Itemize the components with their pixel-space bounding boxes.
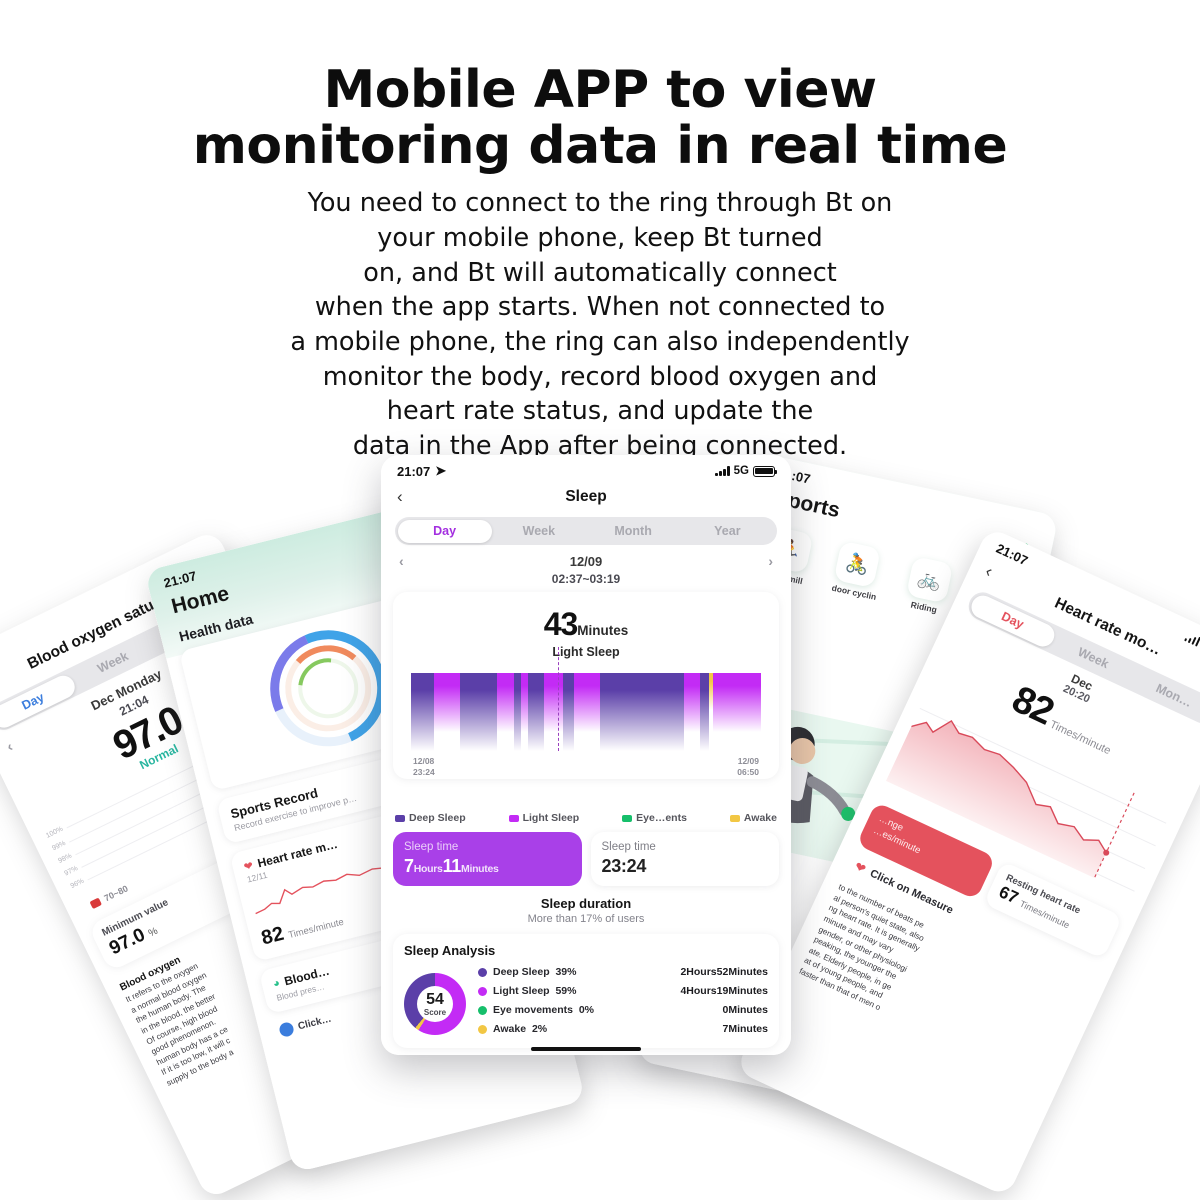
sleep-hypnogram: 12/0823:24 12/0906:50 [411, 673, 761, 751]
hypnogram-segment [460, 673, 497, 751]
sleep-onset-label: Sleep time [602, 841, 769, 853]
chevron-left-icon[interactable]: ‹ [4, 738, 15, 754]
hypnogram-segment [713, 673, 761, 732]
sleep-date-nav[interactable]: ‹ 12/09 › [381, 551, 791, 571]
chevron-left-icon[interactable]: ‹ [399, 553, 404, 569]
hypnogram-end-label: 12/0906:50 [737, 756, 759, 777]
sleep-highlight: 43Minutes [403, 606, 769, 643]
hero-line: monitor the body, record blood oxygen an… [100, 360, 1100, 395]
sleep-highlight-stage: Light Sleep [403, 645, 769, 659]
sleep-duration-title: Sleep duration [381, 896, 791, 911]
title-line-2: monitoring data in real time [0, 118, 1200, 174]
legend-item-deep: Deep Sleep [395, 812, 466, 824]
legend-item-eye: Eye…ents [622, 812, 687, 824]
hero-description: You need to connect to the ring through … [100, 186, 1100, 463]
sleep-status-bar: 21:07 ➤ 5G [381, 455, 791, 481]
heart-icon: ❤ [852, 859, 869, 878]
tab-day[interactable]: Day [398, 520, 492, 543]
phone-sleep[interactable]: 21:07 ➤ 5G ‹ Sleep Day Week Month Year [381, 455, 791, 1055]
sleep-time-duration-value: 7Hours11Minutes [404, 856, 571, 877]
sleep-chart-card: 43Minutes Light Sleep 12/0823:24 12/0906… [393, 592, 779, 779]
hero-line: heart rate status, and update the [100, 394, 1100, 429]
sleep-status-time: 21:07 [397, 464, 430, 479]
analysis-row-eye: Eye movements 0% 0Minutes [478, 1004, 768, 1016]
sleep-analysis-list: Deep Sleep 39% 2Hours52Minutes Light Sle… [478, 966, 768, 1042]
hypnogram-segment [574, 673, 600, 732]
home-heart-value: 82 [259, 923, 286, 950]
sleep-onset-tile[interactable]: Sleep time 23:24 [591, 832, 780, 886]
tab-week[interactable]: Week [492, 520, 586, 543]
battery-icon [753, 466, 775, 477]
sleep-title: Sleep [419, 488, 753, 506]
tab-month[interactable]: Month [586, 520, 680, 543]
hypnogram-start-label: 12/0823:24 [413, 756, 435, 777]
hero-section: Mobile APP to view monitoring data in re… [0, 0, 1200, 450]
analysis-row-deep: Deep Sleep 39% 2Hours52Minutes [478, 966, 768, 978]
spo2-legend-label: 70~80 [103, 883, 130, 903]
spo2-minimum-unit: % [147, 926, 160, 940]
hero-line: when the app starts. When not connected … [100, 290, 1100, 325]
sleep-onset-value: 23:24 [602, 856, 769, 877]
sleep-score-donut: 54 Score [404, 973, 466, 1035]
hypnogram-segment [684, 673, 700, 732]
hypnogram-segment [528, 673, 544, 751]
activity-rings-chart [258, 618, 399, 759]
hypnogram-segment [497, 673, 515, 732]
hypnogram-segment [411, 673, 434, 751]
analysis-row-light: Light Sleep 59% 4Hours19Minutes [478, 985, 768, 997]
hero-line: on, and Bt will automatically connect [100, 256, 1100, 291]
hero-line: a mobile phone, the ring can also indepe… [100, 325, 1100, 360]
tab-year[interactable]: Year [680, 520, 774, 543]
hypnogram-segment [700, 673, 709, 751]
signal-bars-icon [1184, 631, 1200, 646]
sleep-legend: Deep Sleep Light Sleep Eye…ents Awake [381, 786, 791, 824]
sleep-analysis-card: Sleep Analysis 54 Score Deep Sleep 39% 2… [393, 934, 779, 1048]
sleep-network-label: 5G [734, 465, 749, 477]
sleep-score-value: 54 [426, 992, 444, 1008]
home-heart-unit: Times/minute [287, 917, 345, 941]
sports-mode-label: door cyclin [831, 583, 877, 602]
sleep-highlight-unit: Minutes [577, 623, 628, 638]
legend-item-awake: Awake [730, 812, 777, 824]
hypnogram-segment [521, 673, 528, 732]
riding-icon: 🚲 [906, 556, 953, 603]
home-click-label: Click… [297, 1013, 333, 1032]
hypnogram-segment [514, 673, 521, 751]
hero-line: your mobile phone, keep Bt turned [100, 221, 1100, 256]
sports-mode-indoor-cycling[interactable]: 🚴 door cyclin [831, 541, 886, 602]
heart-icon: ❤ [242, 858, 254, 873]
hypnogram-segment [563, 673, 574, 751]
blood-drop-icon: ◕ [272, 977, 281, 990]
title-line-1: Mobile APP to view [324, 60, 877, 120]
location-arrow-icon: ➤ [435, 463, 446, 479]
sleep-period-tabs[interactable]: Day Week Month Year [395, 517, 777, 545]
hypnogram-segment [544, 673, 563, 732]
hero-line: You need to connect to the ring through … [100, 186, 1100, 221]
sleep-navbar: ‹ Sleep [381, 481, 791, 515]
legend-item-light: Light Sleep [509, 812, 580, 824]
page-title: Mobile APP to view monitoring data in re… [0, 0, 1200, 174]
hypnogram-marker [558, 647, 559, 751]
phone-fan: 21:07 ‹ Blood oxygen satu… Day Week Mon…… [0, 430, 1200, 1200]
analysis-row-awake: Awake 2% 7Minutes [478, 1023, 768, 1035]
hypnogram-segment [600, 673, 684, 751]
home-indicator [531, 1047, 641, 1051]
sleep-highlight-value: 43 [544, 606, 578, 642]
sports-mode-riding[interactable]: 🚲 Riding [903, 556, 953, 616]
sleep-time-duration-label: Sleep time [404, 841, 571, 853]
sleep-summary-tiles: Sleep time 7Hours11Minutes Sleep time 23… [381, 824, 791, 886]
sleep-date: 12/09 [570, 554, 603, 569]
sleep-time-duration-tile[interactable]: Sleep time 7Hours11Minutes [393, 832, 582, 886]
chevron-right-icon[interactable]: › [768, 553, 773, 569]
sleep-range: 02:37~03:19 [381, 572, 791, 586]
signal-bars-icon [715, 466, 730, 476]
sleep-score-label: Score [424, 1008, 446, 1017]
hypnogram-segment [434, 673, 460, 732]
sleep-analysis-title: Sleep Analysis [404, 943, 768, 958]
sleep-duration-subtitle: More than 17% of users [381, 913, 791, 925]
indoor-cycling-icon: 🚴 [834, 541, 881, 588]
chevron-left-icon[interactable]: ‹ [397, 487, 419, 507]
